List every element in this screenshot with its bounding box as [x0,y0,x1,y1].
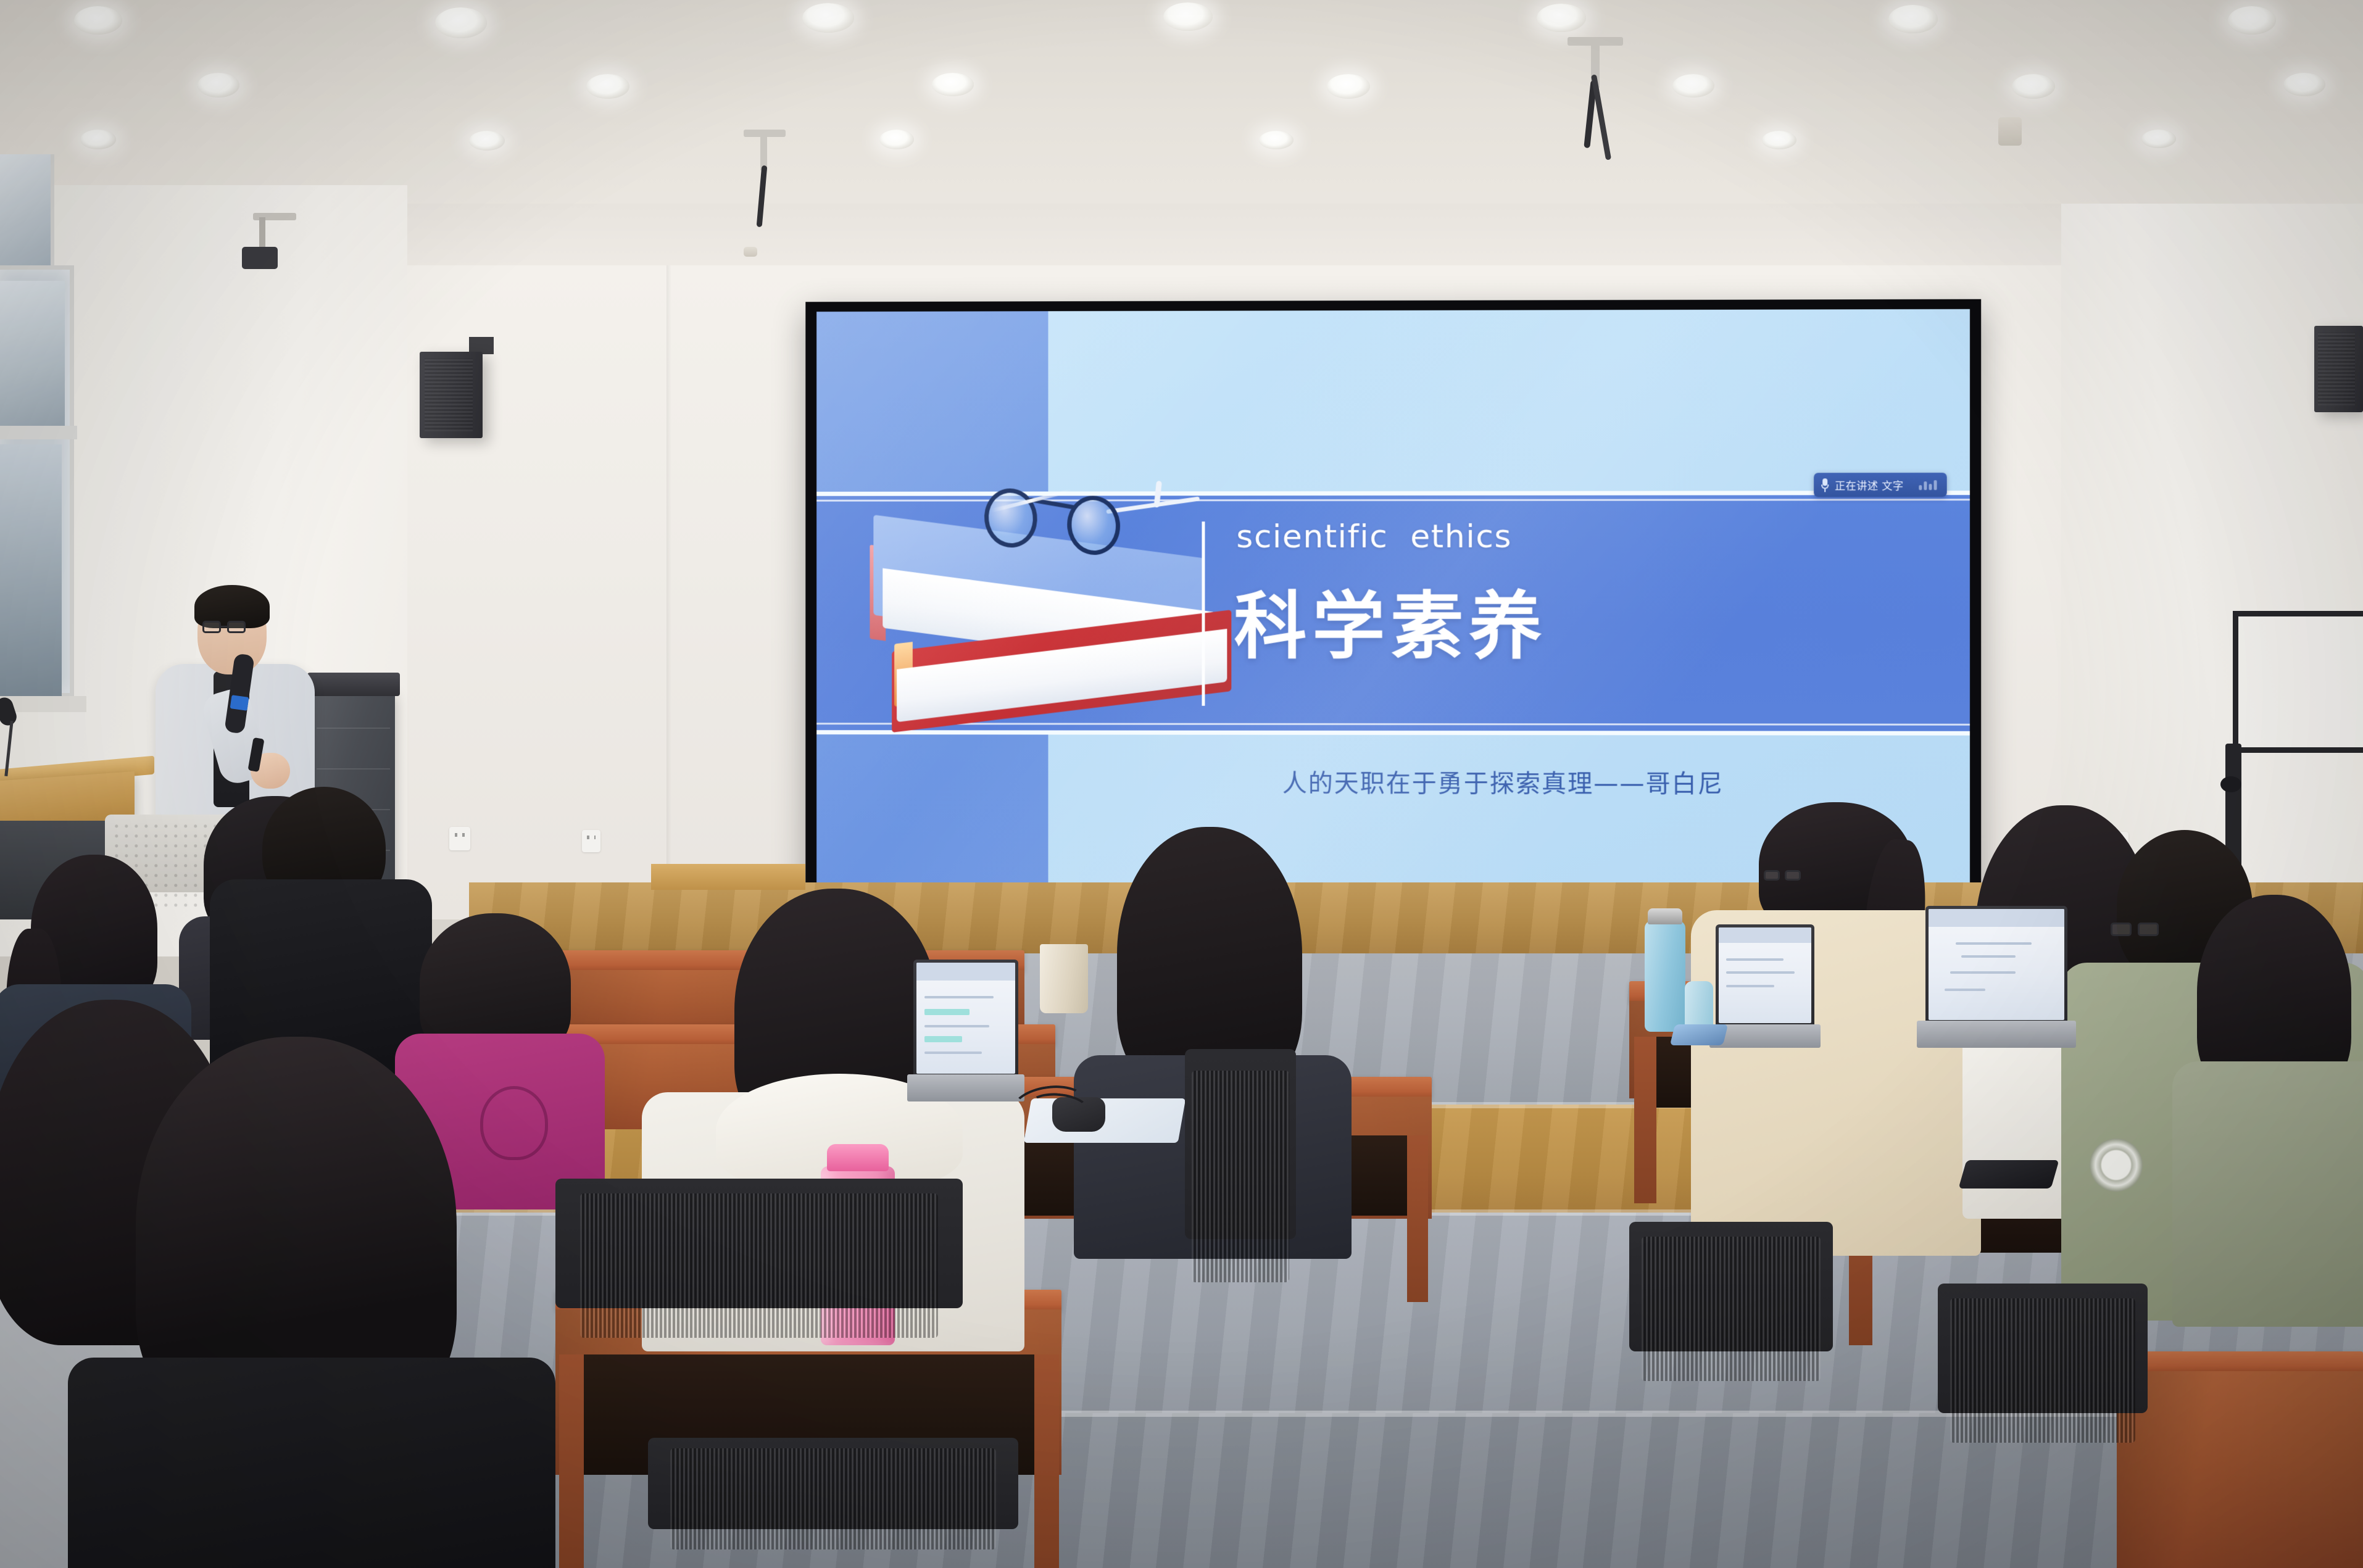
ceiling-downlight [879,130,914,149]
books-illustration [842,467,1301,781]
desk-leg [559,1354,584,1568]
chair[interactable] [1185,1049,1296,1321]
laptop-right-a[interactable] [1716,924,1814,1048]
ceiling-downlight [197,73,239,97]
wall-speaker-right [2314,326,2363,412]
ceiling-downlight [932,73,974,96]
ceiling-downlight [1163,2,1213,31]
title-accent-bar [1202,522,1205,706]
smoke-detector [744,247,757,257]
smartphone-secondary[interactable] [1670,1024,1728,1045]
waveform-icon [1919,480,1937,490]
student-front-left-dark-hair [62,1037,531,1568]
window-mullion [0,426,77,439]
ceiling-downlight [435,7,487,38]
window-pane-upper [0,281,65,429]
slide-title-english: scientific ethics [1236,518,1512,555]
microphone-icon [1821,478,1829,492]
torso [2172,1061,2363,1327]
wall-outlet[interactable] [582,830,600,852]
ceiling-downlight [802,3,854,33]
chair[interactable] [1938,1284,2148,1469]
laptop-center[interactable] [913,960,1018,1101]
ceiling-downlight [2283,73,2325,96]
slide-title-chinese: 科学素养 [1234,567,1548,673]
chair[interactable] [555,1179,963,1364]
wall-outlet[interactable] [449,827,470,850]
desk-leg [1034,1354,1059,1568]
lecture-hall-scene: scientific ethics 科学素养 人的天职在于勇于探索真理——哥白尼… [0,0,2363,1568]
ceiling-downlight [469,131,505,151]
paper-coffee-cup[interactable] [1040,944,1088,1013]
student-glasses [2111,923,2172,937]
eyeglasses-icon [979,468,1255,562]
ceiling-downlight [2141,130,2176,148]
smartphone[interactable] [1958,1160,2059,1188]
presenter-glasses [202,621,262,634]
laptop-right-b[interactable] [1925,906,2067,1048]
torso [68,1358,555,1568]
ceiling-downlight [74,6,122,35]
smoke-detector [1998,117,2022,146]
ceiling-downlight [1762,131,1796,149]
gooseneck-microphone [0,697,35,771]
ceiling-downlight [1888,5,1938,33]
ceiling-downlight [80,130,116,149]
ceiling-downlight [2012,74,2055,99]
glasses-lens-left [981,486,1040,551]
glasses-lens-right [1064,493,1124,558]
narration-toast[interactable]: 正在讲述 文字 [1814,473,1946,497]
thermos-cap[interactable] [1648,908,1682,924]
ceiling-downlight [1672,74,1714,97]
desk-front-right [2117,1351,2363,1568]
bottle-cap[interactable] [827,1144,889,1171]
projector-head [242,247,278,269]
wall-speaker-left [420,352,483,438]
desk-leg [1634,1037,1656,1203]
desk-leg [1407,1135,1428,1302]
thermos-blue[interactable] [1645,921,1685,1032]
chair[interactable] [1629,1222,1833,1407]
ceiling-downlight [2228,6,2276,35]
ceiling-downlight [586,74,629,99]
whiteboard-knob[interactable] [2220,776,2241,792]
ceiling-downlight [1259,131,1294,149]
microphone-band [230,695,249,711]
student-glasses [1764,870,1813,882]
wall-corner-shadow [667,265,671,913]
ceiling-downlight [1327,74,1370,99]
whiteboard-frame [2233,611,2363,753]
narration-toast-label: 正在讲述 文字 [1835,477,1904,492]
jacket-logo-patch [2090,1139,2143,1192]
chair[interactable] [648,1438,1018,1568]
stage-riser-block [651,864,805,890]
slide-subtitle: 人的天职在于勇于探索真理——哥白尼 [1282,763,1724,800]
window-pane-lower [0,444,62,703]
ceiling-downlight [1537,4,1586,32]
glasses-temple [1106,497,1199,514]
student-grey-jacket-right [2178,895,2363,1327]
window-upper-left [0,154,54,265]
